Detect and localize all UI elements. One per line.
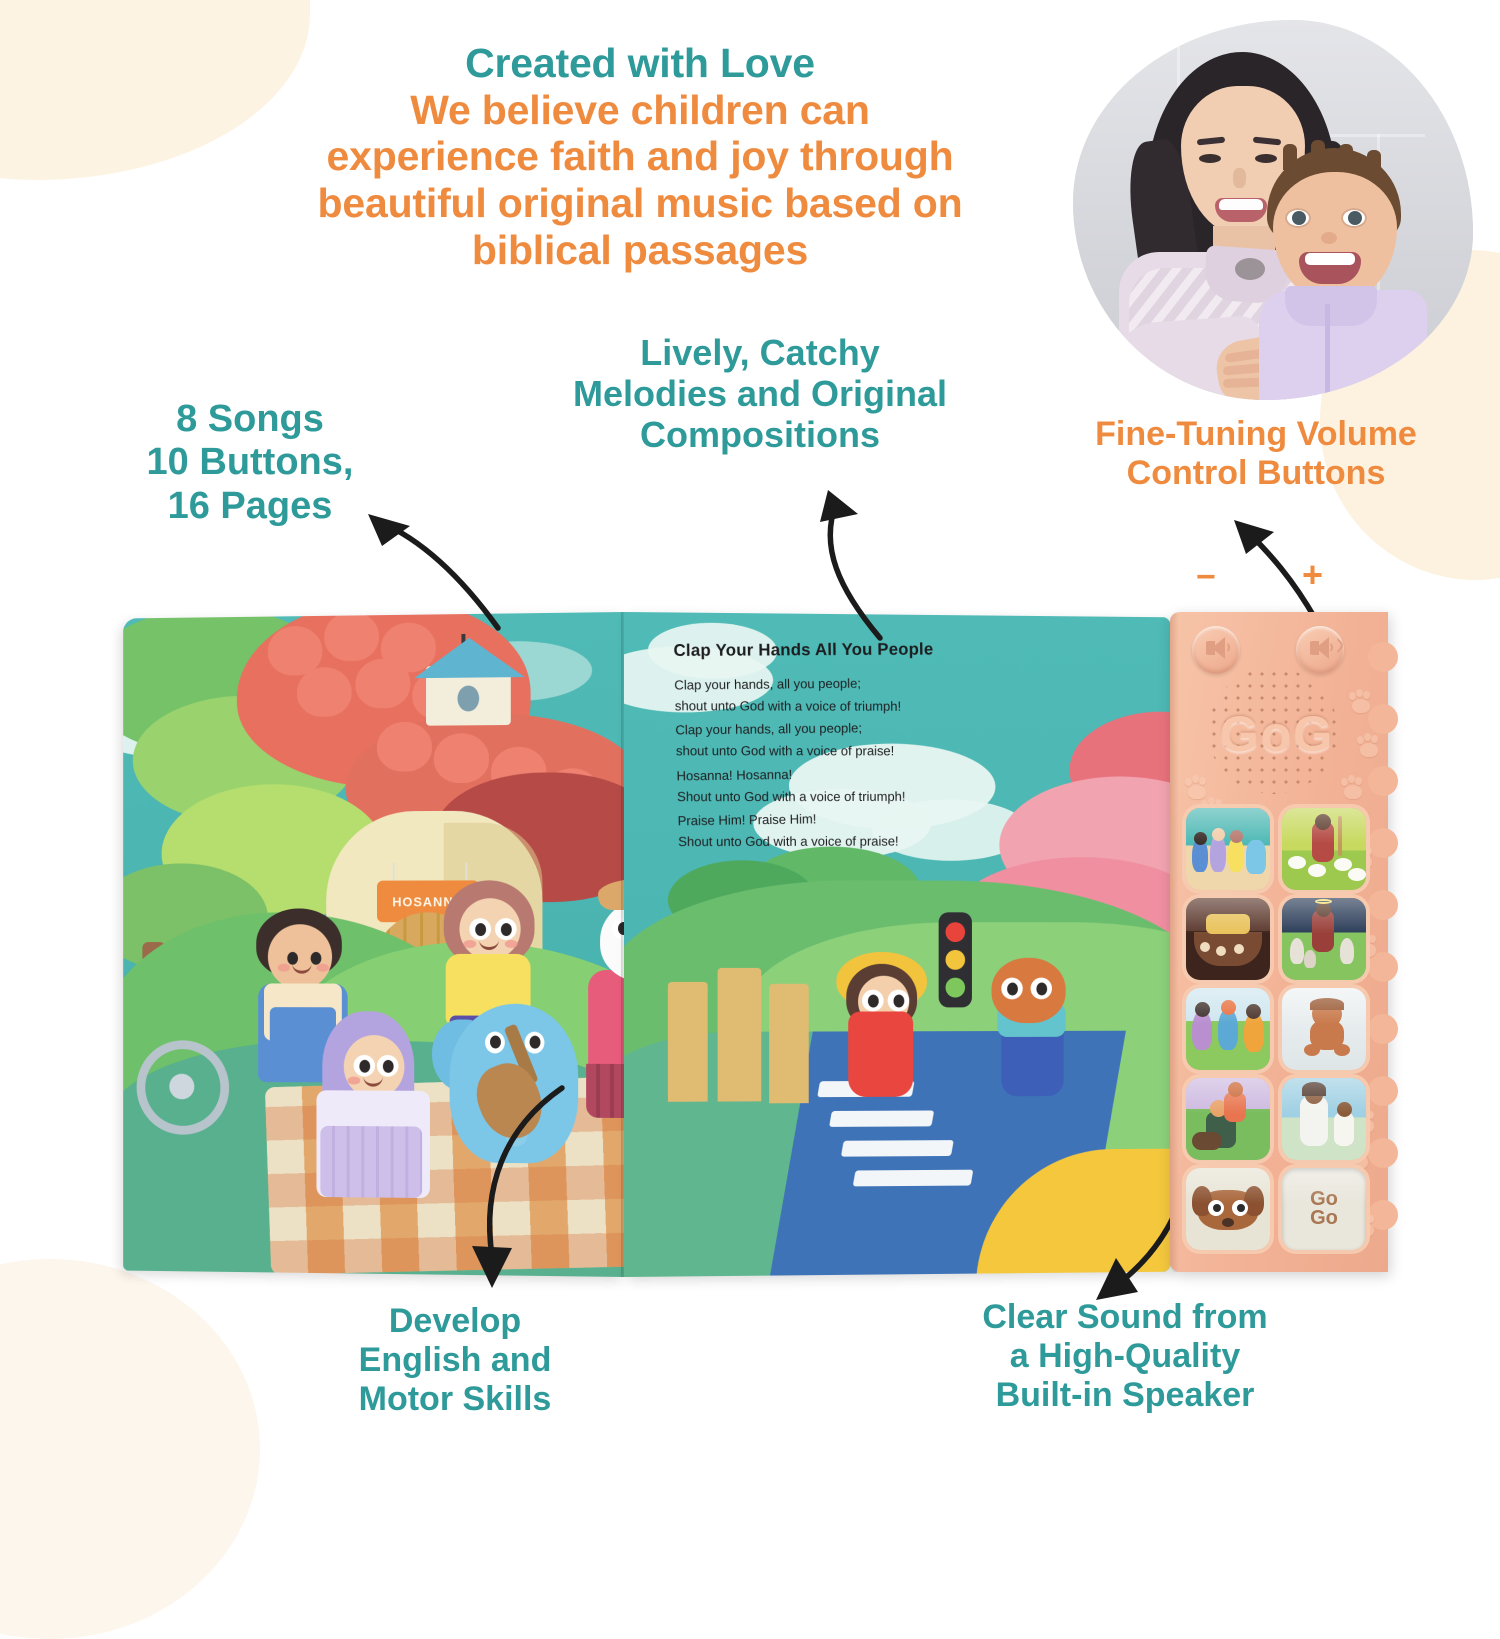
lyric-line: Clap your hands, all you people; [674,671,1029,697]
lyric-line: Shout unto God with a voice of triumph! [677,785,1032,808]
sound-button-shepherd-with-sheep[interactable] [1282,808,1366,890]
callout-songs-line-1: 8 Songs [100,398,400,441]
callout-develop-line-1: Develop [285,1302,625,1341]
callout-songs-line-2: 10 Buttons, [100,441,400,484]
sound-button-children-and-animals[interactable] [1186,808,1270,890]
sound-button-father-and-child[interactable] [1186,1078,1270,1160]
lyric-line: Shout unto God with a voice of praise! [678,830,1033,853]
callout-volume-line-1: Fine-Tuning Volume [1036,415,1476,454]
paw-print-icon [1340,776,1366,802]
headline-line-4: beautiful original music based on [240,180,1040,227]
volume-up-button[interactable] [1296,626,1344,674]
sound-button-jesus-with-child[interactable] [1282,1078,1366,1160]
callout-develop-line-2: English and [285,1341,625,1380]
arrow-to-lyrics [812,476,932,656]
background-blob-bottom-left [0,1259,260,1639]
headline-block: Created with Love We believe children ca… [240,40,1040,274]
sound-button-grid: GoGo [1186,808,1372,1256]
headline-line-2: We believe children can [240,87,1040,134]
sound-button-dog-face[interactable] [1186,1168,1270,1250]
board-book: HOSANNA [112,612,1180,1277]
callout-volume-control: Fine-Tuning Volume Control Buttons [1036,415,1476,493]
headline-line-5: biblical passages [240,227,1040,274]
paw-print-icon [1356,734,1382,760]
headline-line-1: Created with Love [240,40,1040,87]
lyric-line: Clap your hands, all you people; [675,716,1030,743]
callout-speaker-line-2: a High-Quality [925,1337,1325,1376]
lyric-line: Hosanna! Hosanna! [676,761,1031,788]
song-lyrics: Clap your hands, all you people; shout u… [674,670,1033,857]
volume-down-symbol: − [1196,558,1216,597]
sound-module-panel: − + GoG [1170,612,1388,1272]
callout-speaker-line-3: Built-in Speaker [925,1376,1325,1415]
arrow-to-book-pages [352,500,532,650]
callout-speaker: Clear Sound from a High-Quality Built-in… [925,1298,1325,1414]
song-lyrics-block: Clap Your Hands All You People Clap your… [673,637,1033,857]
volume-down-button[interactable] [1192,626,1240,674]
callout-melodies-line-1: Lively, Catchy [540,332,980,373]
paw-print-icon [1348,690,1374,716]
callout-melodies-line-3: Compositions [540,414,980,455]
sound-button-baby-crawling[interactable] [1282,988,1366,1070]
sound-button-three-children-playing[interactable] [1186,988,1270,1070]
headline-line-3: experience faith and joy through [240,133,1040,180]
callout-volume-line-2: Control Buttons [1036,454,1476,493]
traffic-light [939,912,972,1007]
arrow-to-develop-skills [448,1070,578,1300]
sound-button-gogo-logo[interactable]: GoGo [1282,1168,1366,1250]
callout-melodies: Lively, Catchy Melodies and Original Com… [540,332,980,455]
callout-develop-line-3: Motor Skills [285,1380,625,1419]
lyric-line: shout unto God with a voice of praise! [676,740,1031,763]
callout-develop-skills: Develop English and Motor Skills [285,1302,625,1418]
gog-logo: GoG [1202,704,1352,764]
lyric-line: shout unto God with a voice of triumph! [675,695,1030,718]
lyric-line: Praise Him! Praise Him! [677,806,1032,833]
sound-button-noahs-ark[interactable] [1186,898,1270,980]
family-photo [1073,20,1473,400]
callout-melodies-line-2: Melodies and Original [540,373,980,414]
volume-up-symbol: + [1302,554,1323,596]
sound-button-angel-with-children[interactable] [1282,898,1366,980]
